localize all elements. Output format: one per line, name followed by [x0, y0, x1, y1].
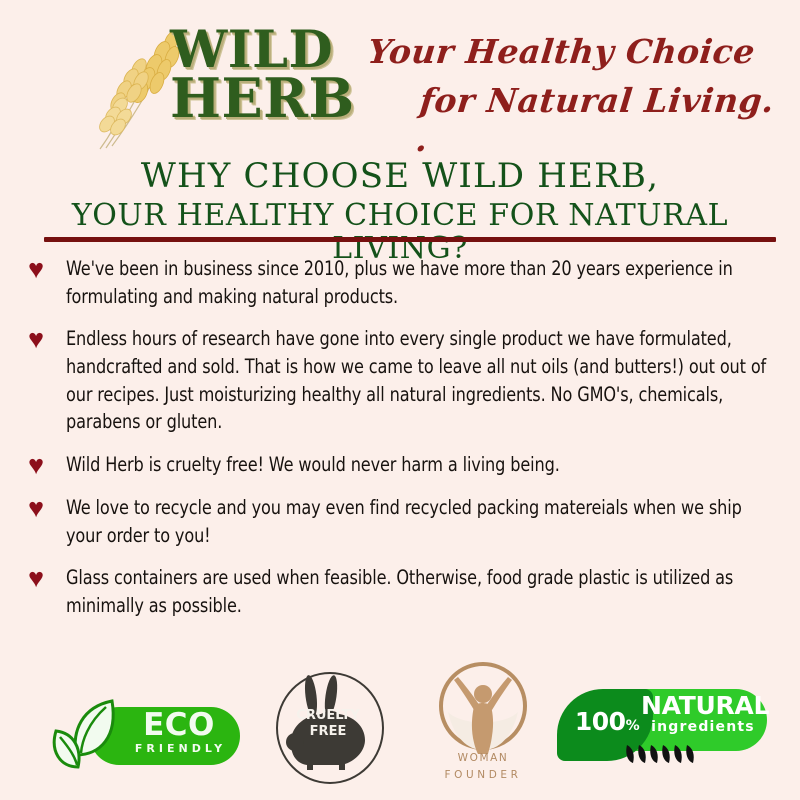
natural-percent-symbol: % — [626, 718, 640, 734]
benefits-list: ♥ We've been in business since 2010, plu… — [24, 255, 780, 635]
title-divider — [44, 237, 776, 242]
page-title: WHY CHOOSE WILD HERB, YOUR HEALTHY CHOIC… — [0, 158, 800, 266]
badge-woman-founder: WOMAN FOUNDER — [424, 660, 542, 790]
woman-raising-arms-icon — [424, 660, 542, 756]
list-item: ♥ Wild Herb is cruelty free! We would ne… — [24, 451, 780, 479]
woman-founder-line2: FOUNDER — [424, 769, 542, 781]
heart-icon: ♥ — [28, 497, 54, 521]
eco-label-sub: FRIENDLY — [120, 742, 238, 755]
heart-icon: ♥ — [28, 328, 54, 352]
badge-cruelty-free: CRUELTY FREE — [273, 664, 385, 786]
natural-label: NATURAL ingredients — [641, 693, 765, 735]
list-item-text: Endless hours of research have gone into… — [66, 325, 775, 436]
natural-percent: 100% — [563, 707, 651, 736]
cruelty-free-line2: FREE — [310, 724, 347, 739]
poster-header: WILD HERB Your Healthy Choice for Natura… — [0, 14, 800, 154]
list-item: ♥ Endless hours of research have gone in… — [24, 325, 780, 436]
list-item-text: We love to recycle and you may even find… — [66, 494, 775, 549]
list-item-text: Glass containers are used when feasible.… — [66, 564, 775, 619]
list-item-text: Wild Herb is cruelty free! We would neve… — [66, 451, 775, 479]
heart-icon: ♥ — [28, 454, 54, 478]
natural-leaf-fringe-icon — [623, 743, 733, 767]
tagline-line1: Your Healthy Choice — [358, 32, 782, 71]
list-item: ♥ We've been in business since 2010, plu… — [24, 255, 780, 310]
page-title-line1: WHY CHOOSE WILD HERB, — [0, 158, 800, 195]
eco-label-main: ECO — [120, 710, 238, 740]
woman-founder-line1: WOMAN — [424, 752, 542, 764]
woman-founder-label: WOMAN FOUNDER — [424, 752, 542, 781]
badge-100-natural: 100% NATURAL ingredients — [557, 685, 769, 767]
list-item-text: We've been in business since 2010, plus … — [66, 255, 775, 310]
list-item: ♥ Glass containers are used when feasibl… — [24, 564, 780, 619]
cruelty-free-label: CRUELTY FREE — [291, 708, 365, 740]
brand-logo: WILD HERB — [92, 20, 347, 152]
brand-wordmark: WILD HERB — [170, 28, 350, 122]
natural-percent-value: 100 — [575, 707, 626, 736]
heart-icon: ♥ — [28, 258, 54, 282]
heart-icon: ♥ — [28, 567, 54, 591]
eco-label: ECO FRIENDLY — [120, 710, 238, 755]
certification-badge-row: ECO FRIENDLY CRUELTY FREE — [0, 660, 800, 800]
brand-name-line2: HERB — [170, 75, 350, 123]
promo-poster: WILD HERB Your Healthy Choice for Natura… — [0, 0, 800, 800]
brand-tagline: Your Healthy Choice for Natural Living. … — [360, 32, 780, 159]
badge-eco-friendly: ECO FRIENDLY — [48, 697, 246, 775]
cruelty-free-line1: CRUELTY — [296, 708, 359, 723]
natural-label-main: NATURAL — [641, 693, 765, 719]
list-item: ♥ We love to recycle and you may even fi… — [24, 494, 780, 549]
natural-label-sub: ingredients — [641, 719, 765, 735]
tagline-line2: for Natural Living. . — [356, 81, 784, 159]
